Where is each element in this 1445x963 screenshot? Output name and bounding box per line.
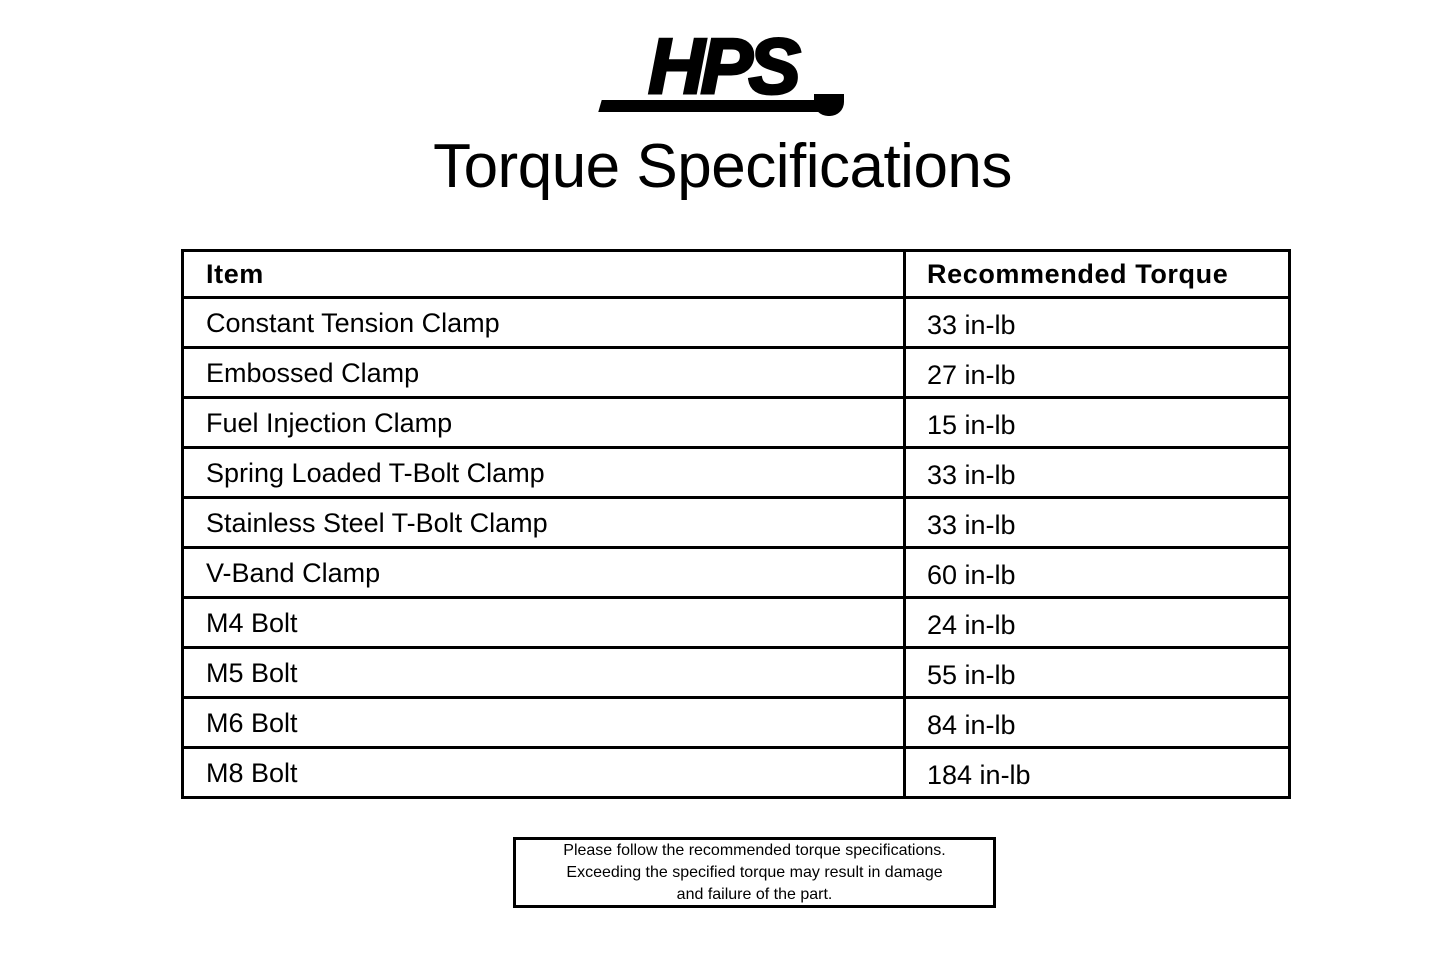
hps-logo-text: HPS: [598, 20, 848, 112]
hps-logo-swoosh-tip: [814, 94, 844, 116]
cell-item: M8 Bolt: [183, 748, 905, 798]
column-header-recommended-torque: Recommended Torque: [905, 251, 1290, 298]
cell-item: M5 Bolt: [183, 648, 905, 698]
cell-item: Constant Tension Clamp: [183, 298, 905, 348]
table-body: Constant Tension Clamp 33 in-lb Embossed…: [183, 298, 1290, 798]
cell-item: Embossed Clamp: [183, 348, 905, 398]
cell-item: Spring Loaded T-Bolt Clamp: [183, 448, 905, 498]
note-line: and failure of the part.: [677, 884, 833, 906]
hps-logo-underline-bar: [598, 100, 833, 112]
cell-torque: 84 in-lb: [905, 698, 1290, 748]
table-row: M8 Bolt 184 in-lb: [183, 748, 1290, 798]
page-title: Torque Specifications: [0, 131, 1445, 203]
table-row: V-Band Clamp 60 in-lb: [183, 548, 1290, 598]
cell-torque: 15 in-lb: [905, 398, 1290, 448]
cell-item: Stainless Steel T-Bolt Clamp: [183, 498, 905, 548]
note-line: Exceeding the specified torque may resul…: [566, 862, 942, 884]
column-header-item: Item: [183, 251, 905, 298]
warning-note-box: Please follow the recommended torque spe…: [513, 837, 996, 908]
table-row: M4 Bolt 24 in-lb: [183, 598, 1290, 648]
cell-torque: 184 in-lb: [905, 748, 1290, 798]
torque-specifications-table: Item Recommended Torque Constant Tension…: [181, 249, 1291, 799]
hps-logo-icon: HPS: [598, 26, 848, 118]
table-row: Stainless Steel T-Bolt Clamp 33 in-lb: [183, 498, 1290, 548]
table-row: M6 Bolt 84 in-lb: [183, 698, 1290, 748]
table-row: Spring Loaded T-Bolt Clamp 33 in-lb: [183, 448, 1290, 498]
table-row: Embossed Clamp 27 in-lb: [183, 348, 1290, 398]
cell-torque: 33 in-lb: [905, 498, 1290, 548]
note-line: Please follow the recommended torque spe…: [563, 840, 945, 862]
cell-torque: 27 in-lb: [905, 348, 1290, 398]
cell-torque: 55 in-lb: [905, 648, 1290, 698]
table-row: Fuel Injection Clamp 15 in-lb: [183, 398, 1290, 448]
table-row: M5 Bolt 55 in-lb: [183, 648, 1290, 698]
table-row: Constant Tension Clamp 33 in-lb: [183, 298, 1290, 348]
cell-torque: 33 in-lb: [905, 298, 1290, 348]
cell-item: M6 Bolt: [183, 698, 905, 748]
table-header-row: Item Recommended Torque: [183, 251, 1290, 298]
cell-item: Fuel Injection Clamp: [183, 398, 905, 448]
cell-torque: 60 in-lb: [905, 548, 1290, 598]
cell-torque: 24 in-lb: [905, 598, 1290, 648]
cell-torque: 33 in-lb: [905, 448, 1290, 498]
cell-item: V-Band Clamp: [183, 548, 905, 598]
cell-item: M4 Bolt: [183, 598, 905, 648]
brand-logo: HPS: [0, 26, 1445, 118]
